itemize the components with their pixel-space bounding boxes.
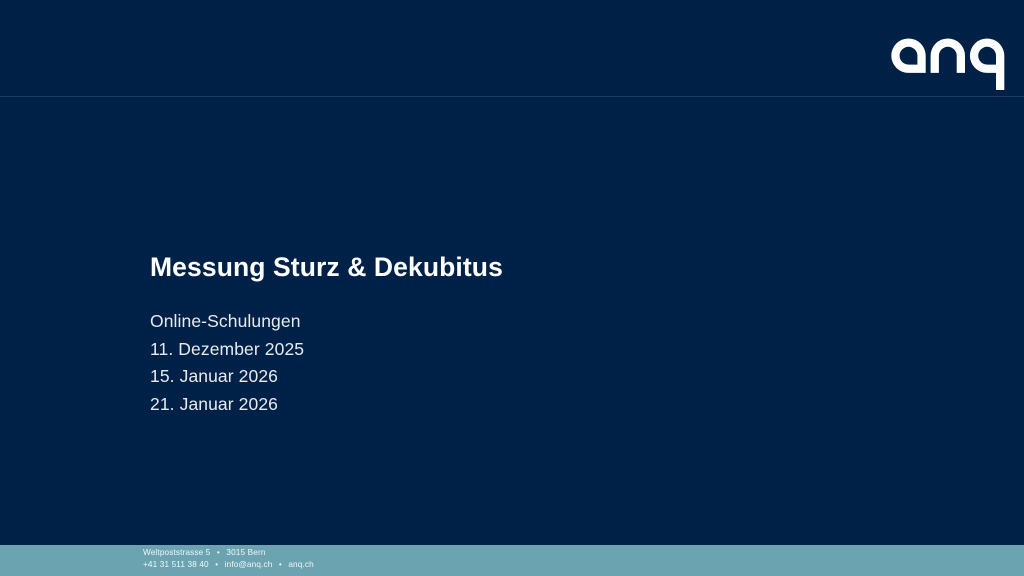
subtitle-line-event-type: Online-Schulungen (150, 308, 670, 336)
footer-separator-icon: • (211, 559, 222, 571)
header-divider (0, 96, 1024, 97)
page-title: Messung Sturz & Dekubitus (150, 252, 503, 283)
presentation-slide: Messung Sturz & Dekubitus Online-Schulun… (0, 0, 1024, 576)
footer-separator-icon: • (275, 559, 286, 571)
footer-contact-info: Weltpoststrasse 5 • 3015 Bern +41 31 511… (143, 547, 563, 570)
subtitle-line-date-3: 21. Januar 2026 (150, 391, 670, 419)
subtitle-line-date-2: 15. Januar 2026 (150, 363, 670, 391)
footer-website[interactable]: anq.ch (288, 560, 313, 569)
footer-city: 3015 Bern (226, 548, 265, 557)
subtitle-line-date-1: 11. Dezember 2025 (150, 336, 670, 364)
footer-address-line: Weltpoststrasse 5 • 3015 Bern (143, 547, 563, 559)
subtitle-block: Online-Schulungen 11. Dezember 2025 15. … (150, 308, 670, 418)
footer-email[interactable]: info@anq.ch (225, 560, 273, 569)
anq-logo (886, 28, 1012, 98)
footer-phone[interactable]: +41 31 511 38 40 (143, 560, 209, 569)
footer-street: Weltpoststrasse 5 (143, 548, 210, 557)
header-band (0, 0, 1024, 96)
footer-contact-line: +41 31 511 38 40 • info@anq.ch • anq.ch (143, 559, 563, 571)
footer-separator-icon: • (213, 547, 224, 559)
